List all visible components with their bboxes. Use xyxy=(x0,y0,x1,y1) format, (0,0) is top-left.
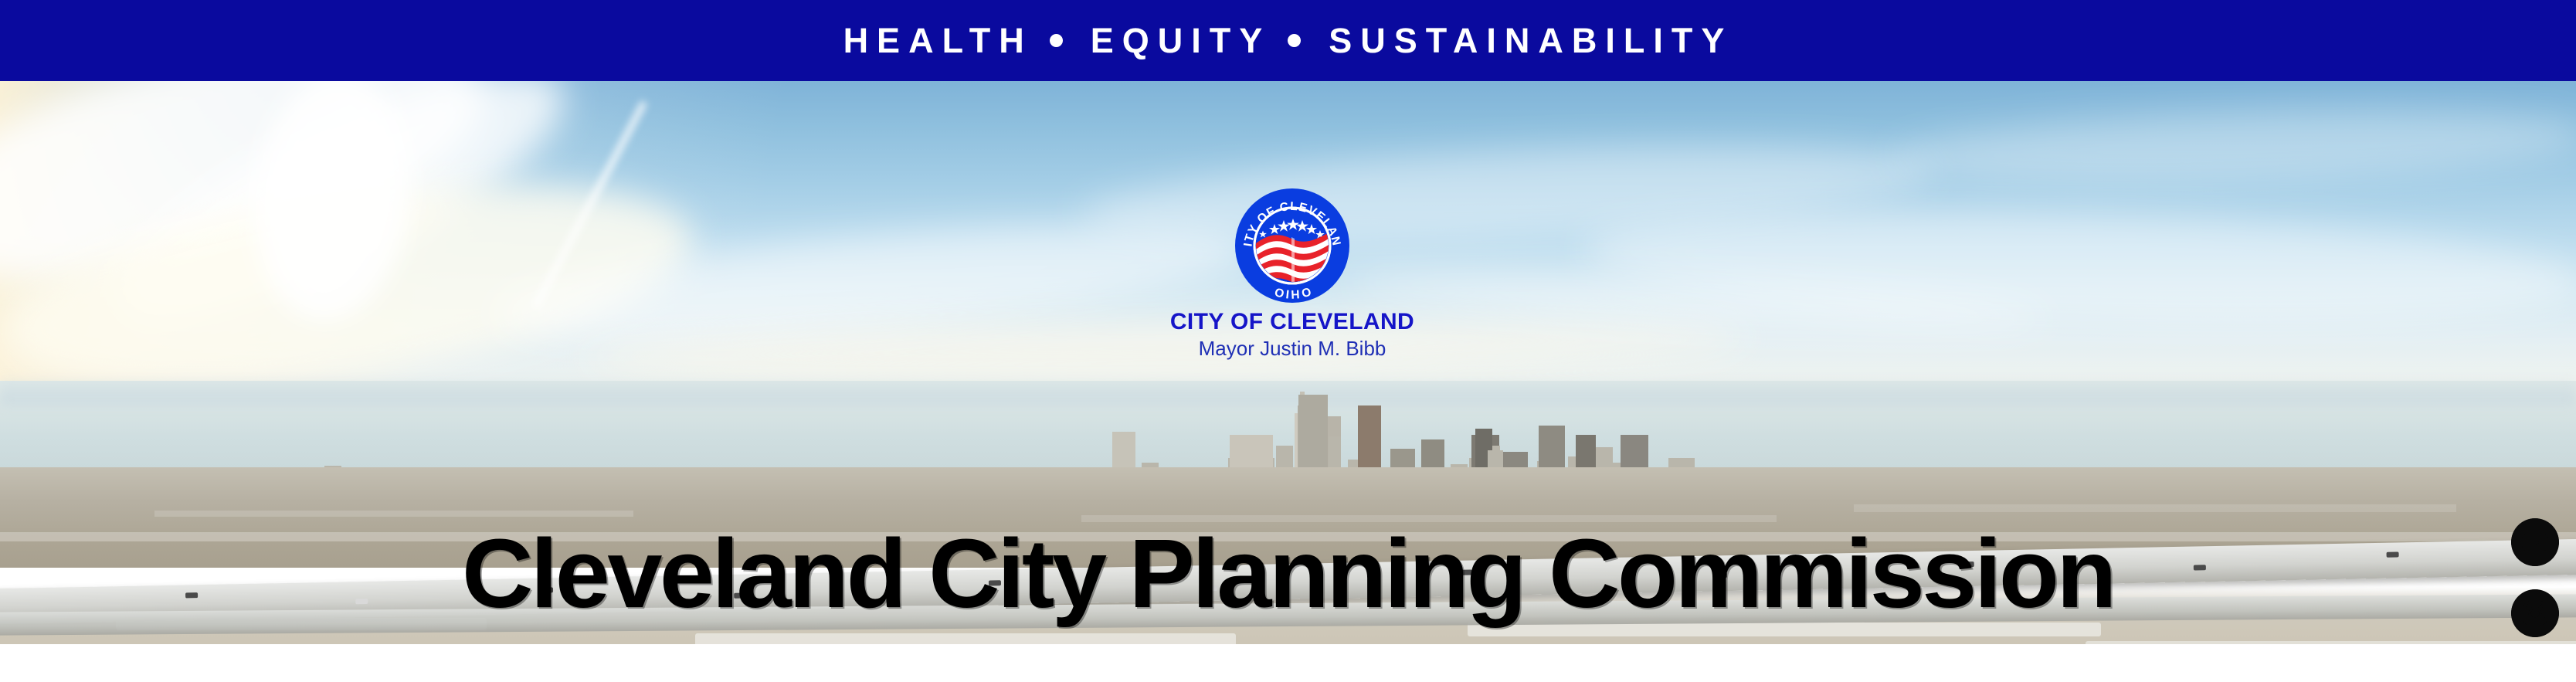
social-links xyxy=(2511,518,2559,644)
instagram-icon[interactable] xyxy=(2511,589,2559,637)
bullet-separator-icon xyxy=(1050,34,1063,47)
banner-word-equity: EQUITY xyxy=(1091,21,1271,60)
top-banner: HEALTHEQUITYSUSTAINABILITY xyxy=(0,0,2576,81)
page-title: Cleveland City Planning Commission xyxy=(0,525,2576,623)
mayor-name-label: Mayor Justin M. Bibb xyxy=(1091,338,1493,361)
bottom-white-strip xyxy=(0,644,2576,682)
city-seal-icon: CITY OF CLEVELAND OHIO xyxy=(1234,188,1350,304)
horizon-haze xyxy=(0,375,2576,405)
youtube-icon[interactable] xyxy=(2511,518,2559,566)
bullet-separator-icon xyxy=(1288,34,1301,47)
page-root: HEALTHEQUITYSUSTAINABILITY xyxy=(0,0,2576,682)
hero-photo: CITY OF CLEVELAND OHIO xyxy=(0,81,2576,644)
city-name-label: CITY OF CLEVELAND xyxy=(1091,309,1493,334)
banner-word-health: HEALTH xyxy=(843,21,1033,60)
banner-tagline: HEALTHEQUITYSUSTAINABILITY xyxy=(843,23,1733,58)
banner-word-sustainability: SUSTAINABILITY xyxy=(1329,21,1733,60)
city-brand-block: CITY OF CLEVELAND OHIO xyxy=(1091,188,1493,361)
